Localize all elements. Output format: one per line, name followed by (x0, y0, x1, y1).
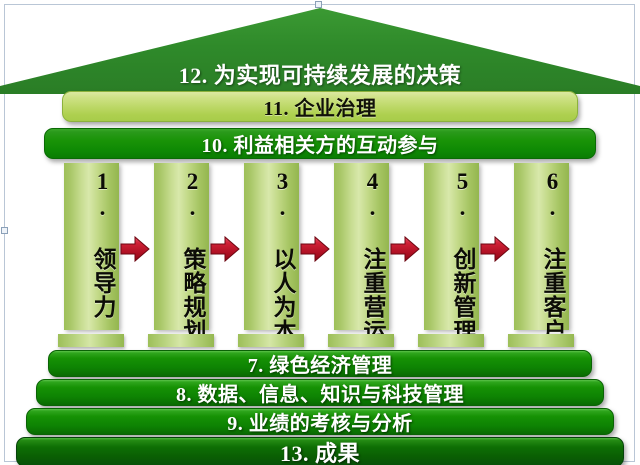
pillar-1-base (58, 334, 124, 347)
pillar-5-label: 5. 创新管理 (424, 169, 479, 324)
arrow-pillar-1-to-2[interactable] (120, 234, 150, 264)
right-arrow-icon (300, 234, 330, 264)
pillar-2-strategic-planning[interactable]: 2. 策略规划 (154, 163, 209, 330)
roof-label: 12. 为实现可持续发展的决策 (0, 58, 640, 90)
pillar-2-label: 2. 策略规划 (154, 169, 209, 324)
right-arrow-icon (210, 234, 240, 264)
bar-11-label: 11. 企业治理 (264, 92, 377, 121)
bar-9-performance-review-analysis[interactable]: 9. 业绩的考核与分析 (26, 408, 614, 435)
pillar-2-base (148, 334, 214, 347)
bar-11-corporate-governance[interactable]: 11. 企业治理 (62, 91, 578, 122)
pillar-3-base (238, 334, 304, 347)
bar-10-stakeholder-engagement[interactable]: 10. 利益相关方的互动参与 (44, 128, 596, 159)
diagram-canvas: 12. 为实现可持续发展的决策 11. 企业治理 10. 利益相关方的互动参与 … (0, 0, 640, 465)
pillar-3-people-oriented[interactable]: 3. 以人为本 (244, 163, 299, 330)
pillar-5-base (418, 334, 484, 347)
pillar-6-label: 6. 注重客户 (514, 169, 569, 324)
selection-handle-left[interactable] (1, 227, 8, 234)
arrow-pillar-3-to-4[interactable] (300, 234, 330, 264)
selection-handle-top[interactable] (315, 1, 322, 8)
bar-8-data-information-knowledge-technology[interactable]: 8. 数据、信息、知识与科技管理 (36, 379, 604, 406)
pillar-4-label: 4. 注重营运 (334, 169, 389, 324)
pillar-1-leadership[interactable]: 1. 领导力 (64, 163, 119, 330)
pillar-1-label: 1. 领导力 (64, 169, 119, 324)
bar-10-label: 10. 利益相关方的互动参与 (202, 129, 439, 158)
pillar-6-customer-focus[interactable]: 6. 注重客户 (514, 163, 569, 330)
pillar-3-label: 3. 以人为本 (244, 169, 299, 324)
bar-7-green-economy-management[interactable]: 7. 绿色经济管理 (48, 350, 592, 377)
right-arrow-icon (480, 234, 510, 264)
pillar-5-innovation-management[interactable]: 5. 创新管理 (424, 163, 479, 330)
bar-13-results[interactable]: 13. 成果 (16, 437, 624, 465)
bar-9-label: 9. 业绩的考核与分析 (227, 407, 413, 436)
arrow-pillar-2-to-3[interactable] (210, 234, 240, 264)
pillar-6-base (508, 334, 574, 347)
bar-7-label: 7. 绿色经济管理 (248, 349, 393, 378)
bar-8-label: 8. 数据、信息、知识与科技管理 (176, 378, 464, 407)
arrow-pillar-5-to-6[interactable] (480, 234, 510, 264)
right-arrow-icon (120, 234, 150, 264)
bar-13-label: 13. 成果 (280, 436, 360, 465)
pillar-4-operations-focus[interactable]: 4. 注重营运 (334, 163, 389, 330)
pillar-4-base (328, 334, 394, 347)
temple-roof[interactable]: 12. 为实现可持续发展的决策 (0, 8, 640, 95)
arrow-pillar-4-to-5[interactable] (390, 234, 420, 264)
right-arrow-icon (390, 234, 420, 264)
